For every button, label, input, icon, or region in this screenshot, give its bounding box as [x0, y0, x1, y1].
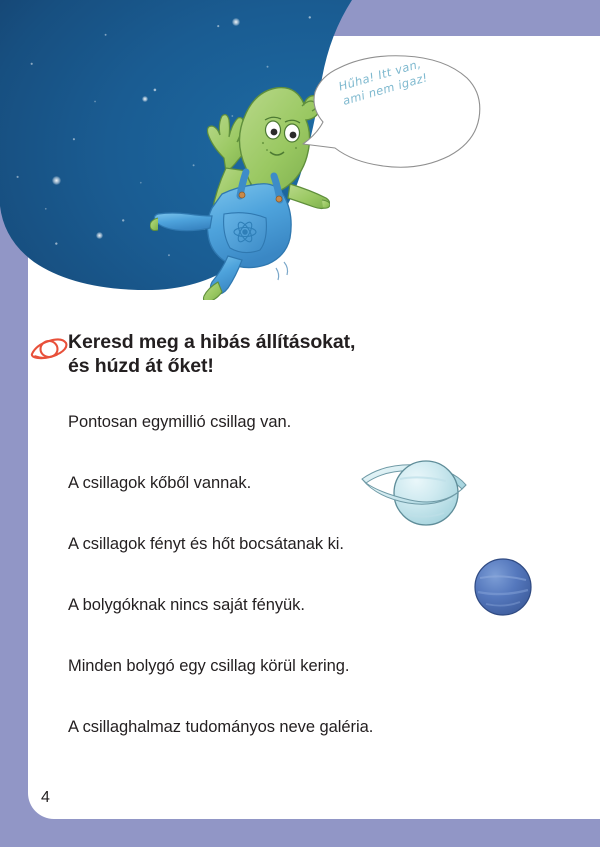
workbook-page: Hűha! Itt van, ami nem igaz! Keresd meg …	[0, 0, 600, 847]
star-glow	[232, 18, 240, 26]
statement-item[interactable]: A csillagok fényt és hőt bocsátanak ki.	[68, 534, 538, 595]
saturn-planet-icon	[30, 336, 68, 362]
statement-item[interactable]: Minden bolygó egy csillag körül kering.	[68, 656, 538, 717]
statement-item[interactable]: A bolygóknak nincs saját fényük.	[68, 595, 538, 656]
blue-planet-illustration	[472, 556, 534, 618]
statement-item[interactable]: A csillaghalmaz tudományos neve galéria.	[68, 717, 538, 778]
page-number: 4	[41, 789, 50, 807]
ringed-planet-illustration	[350, 443, 474, 539]
star-glow	[52, 176, 61, 185]
star-glow	[96, 232, 103, 239]
speech-bubble: Hűha! Itt van, ami nem igaz!	[295, 52, 485, 174]
task-block: Keresd meg a hibás állításokat, és húzd …	[30, 330, 510, 378]
star-glow	[142, 96, 148, 102]
task-heading: Keresd meg a hibás állításokat, és húzd …	[30, 330, 510, 378]
